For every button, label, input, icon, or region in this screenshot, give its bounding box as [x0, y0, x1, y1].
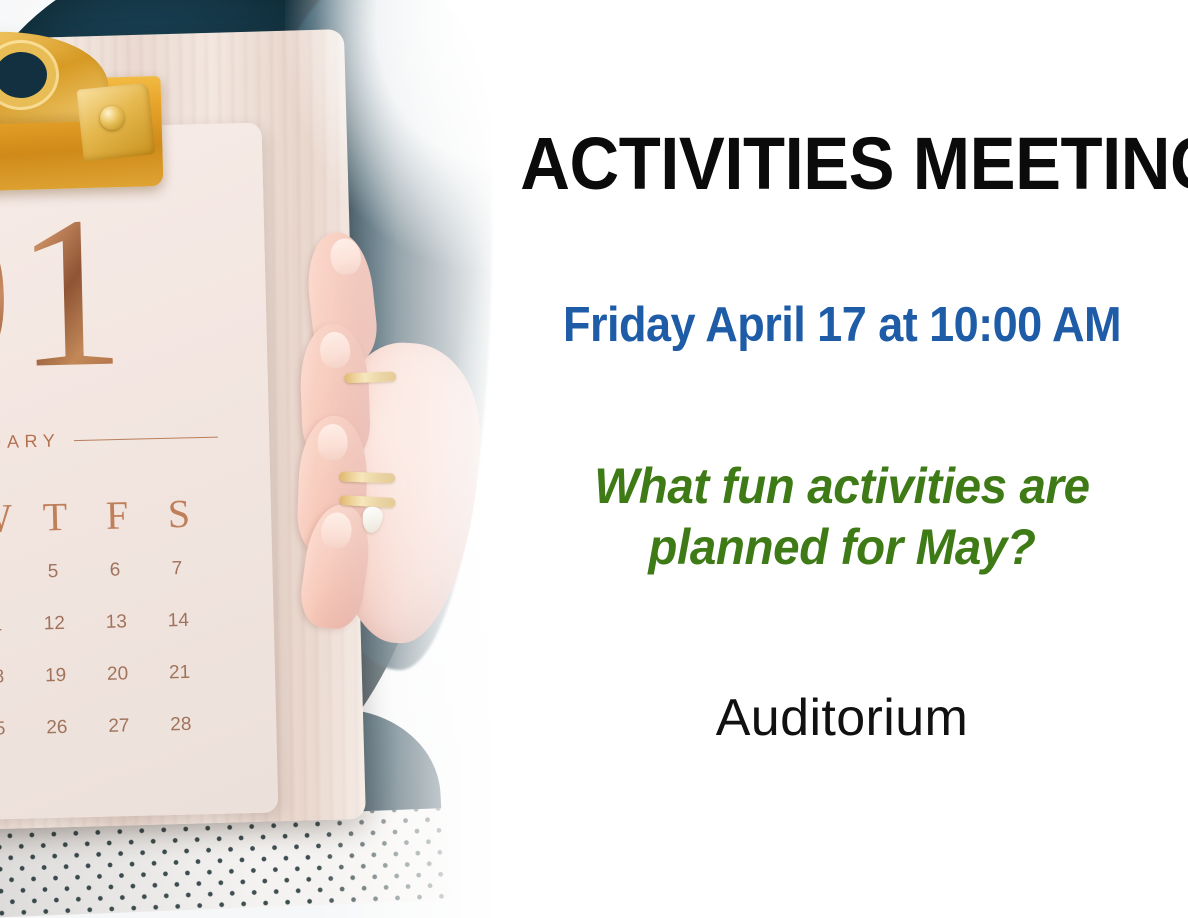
weekday-letter: F: [85, 491, 148, 540]
calendar-weekday-row: W T F S: [0, 489, 243, 543]
flyer-slide: 01 JANUARY 2017 W T F S 4 5 6 7 11 12 13…: [0, 0, 1188, 918]
meeting-question: What fun activities are planned for May?: [513, 456, 1170, 578]
calendar-date: 7: [146, 557, 209, 581]
meeting-datetime: Friday April 17 at 10:00 AM: [524, 300, 1161, 351]
meeting-question-line-2: planned for May?: [513, 517, 1170, 578]
calendar-date: 5: [22, 560, 85, 584]
calendar-date: 18: [0, 666, 25, 690]
calendar-date: 20: [86, 663, 149, 687]
calendar-month-label: JANUARY: [0, 430, 60, 454]
weekday-letter: T: [23, 492, 86, 541]
weekday-letter: S: [147, 489, 210, 538]
calendar-date: 28: [150, 713, 213, 737]
calendar-rule: [74, 436, 218, 441]
photo-panel: 01 JANUARY 2017 W T F S 4 5 6 7 11 12 13…: [0, 0, 545, 918]
meeting-venue: Auditorium: [496, 690, 1188, 747]
calendar-date: 27: [88, 715, 151, 739]
calendar-date: 12: [23, 612, 86, 636]
text-panel: ACTIVITIES MEETING Friday April 17 at 10…: [496, 0, 1188, 918]
calendar-date: 25: [0, 718, 26, 742]
clipboard-clip-rivet: [100, 106, 124, 130]
weekday-letter: W: [0, 494, 25, 543]
calendar-date: 21: [148, 661, 211, 685]
calendar-date: 13: [85, 611, 148, 635]
calendar-date-grid: 4 5 6 7 11 12 13 14 18 19 20 21 25 26 27…: [0, 557, 244, 742]
page-title: ACTIVITIES MEETING: [520, 126, 1164, 201]
calendar-date: 4: [0, 562, 22, 586]
calendar-date: 11: [0, 614, 24, 638]
calendar-date: 14: [147, 609, 210, 633]
meeting-question-line-1: What fun activities are: [513, 456, 1170, 517]
calendar-date: 19: [24, 664, 87, 688]
calendar-date: 6: [84, 559, 147, 583]
calendar-big-day: 01: [0, 183, 131, 404]
calendar-date: 26: [26, 716, 89, 740]
